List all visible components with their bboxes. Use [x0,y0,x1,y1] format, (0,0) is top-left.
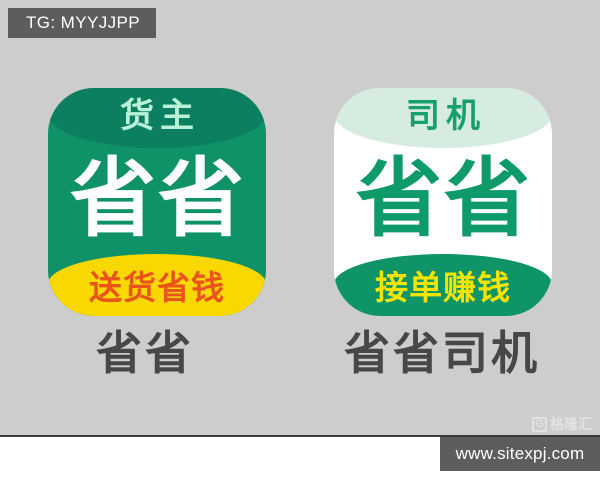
app-icon-driver-slogan: 接单赚钱 [334,254,552,316]
source-watermark: G 格隆汇 [532,414,592,434]
app-icon-shipper-slogan: 送货省钱 [48,254,266,316]
screenshot-root: TG: MYYJJPP 货主 省省 送货省钱 司机 省省 接单赚钱 省省 省省司… [0,0,600,480]
watermark-logo-icon: G [532,417,547,432]
app-caption-driver: 省省司机 [344,330,540,376]
app-icon-driver-wordmark: 省省 [334,138,552,260]
app-caption-shipper: 省省 [96,330,194,376]
app-icon-shipper-wordmark: 省省 [48,138,266,260]
site-url-banner: www.sitexpj.com [440,437,600,471]
watermark-label: 格隆汇 [550,414,592,434]
app-icon-driver[interactable]: 司机 省省 接单赚钱 [334,88,552,316]
app-icons-row: 货主 省省 送货省钱 司机 省省 接单赚钱 [0,88,600,316]
app-icon-shipper[interactable]: 货主 省省 送货省钱 [48,88,266,316]
tg-handle-banner: TG: MYYJJPP [8,8,156,38]
